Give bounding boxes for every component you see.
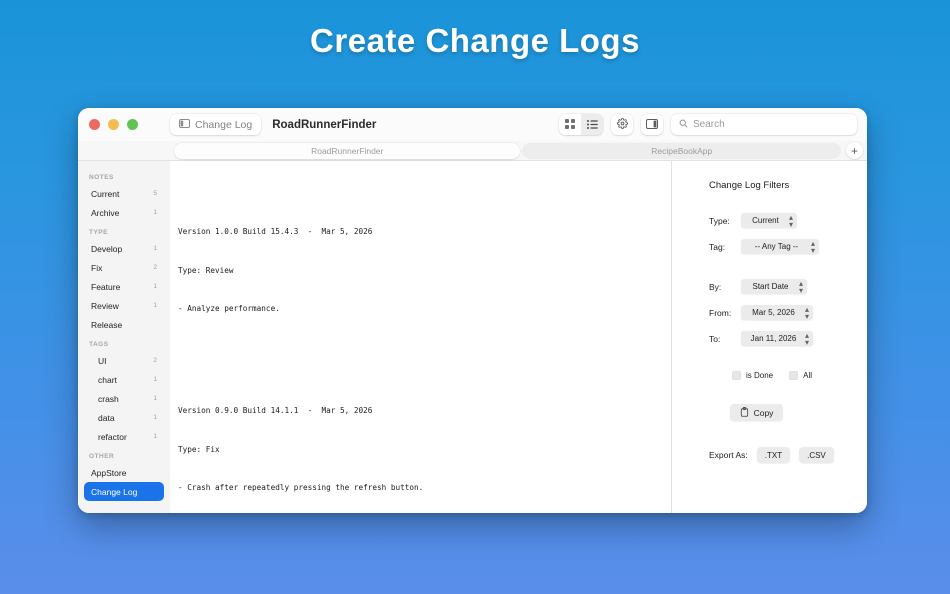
grid-view-button[interactable] (559, 114, 581, 135)
plus-icon: + (851, 145, 858, 157)
filter-select-by[interactable]: Start Date ▴▾ (741, 279, 807, 294)
filter-select-to[interactable]: Jan 11, 2026 ▴▾ (741, 331, 813, 346)
copy-button[interactable]: Copy (730, 404, 784, 421)
app-window: Change Log RoadRunnerFinder (78, 108, 867, 513)
tab-label: RecipeBookApp (651, 146, 712, 156)
checkbox-is-done[interactable]: is Done (732, 371, 773, 380)
sidebar-item-develop[interactable]: Develop 1 (84, 239, 164, 258)
copy-button-label: Copy (754, 408, 774, 418)
sidebar-item-label: Current (91, 189, 119, 199)
sidebar-section-header-type: TYPE (78, 222, 170, 239)
export-row: Export As: .TXT .CSV (672, 447, 867, 463)
filter-label-by: By: (709, 282, 741, 292)
chevron-updown-icon: ▴▾ (799, 280, 803, 294)
sidebar-item-label: crash (91, 394, 119, 404)
tab-roadrunnerfinder[interactable]: RoadRunnerFinder (174, 143, 520, 159)
sidebar-item-crash[interactable]: crash 1 (84, 389, 164, 408)
sidebar-item-refactor[interactable]: refactor 1 (84, 427, 164, 446)
chevron-updown-icon: ▴▾ (805, 306, 809, 320)
toolbar-right-group: Search (559, 108, 857, 141)
changelog-text-pane[interactable]: Version 1.0.0 Build 15.4.3 - Mar 5, 2026… (170, 161, 672, 513)
checkbox-box-icon (732, 371, 741, 380)
search-placeholder: Search (693, 119, 725, 130)
filter-row-tag: Tag: -- Any Tag -- ▴▾ (672, 236, 867, 257)
filter-row-from: From: Mar 5, 2026 ▴▾ (672, 302, 867, 323)
filter-value-tag: -- Any Tag -- (748, 242, 805, 251)
list-view-button[interactable] (581, 114, 603, 135)
inspector-title: Change Log Filters (672, 180, 867, 191)
sidebar-item-count: 2 (153, 264, 157, 271)
chevron-updown-icon: ▴▾ (805, 332, 809, 346)
entry-version-line: Version 1.0.0 Build 15.4.3 - Mar 5, 2026 (178, 226, 671, 239)
filter-select-tag[interactable]: -- Any Tag -- ▴▾ (741, 239, 819, 254)
sidebar-item-label: Fix (91, 263, 102, 273)
sidebar-section-header-tags: TAGS (78, 334, 170, 351)
sidebar-item-data[interactable]: data 1 (84, 408, 164, 427)
entry-version-line: Version 0.9.0 Build 14.1.1 - Mar 5, 2026 (178, 405, 671, 418)
inspector-toggle-button[interactable] (641, 114, 663, 135)
sidebar-item-label: UI (91, 356, 107, 366)
clipboard-icon (740, 407, 749, 419)
sidebar-item-count: 2 (153, 357, 157, 364)
changelog-text: Version 1.0.0 Build 15.4.3 - Mar 5, 2026… (178, 175, 671, 513)
view-mode-segmented-control[interactable] (559, 114, 603, 135)
add-tab-button[interactable]: + (846, 142, 863, 159)
sidebar-section-header-other: OTHER (78, 446, 170, 463)
sidebar-item-current[interactable]: Current 5 (84, 184, 164, 203)
filter-row-type: Type: Current ▴▾ (672, 210, 867, 231)
sidebar-left-icon (179, 119, 190, 131)
filter-select-type[interactable]: Current ▴▾ (741, 213, 797, 228)
sidebar-item-count: 1 (153, 376, 157, 383)
sidebar-item-label: Feature (91, 282, 120, 292)
chevron-updown-icon: ▴▾ (789, 214, 793, 228)
filter-select-from[interactable]: Mar 5, 2026 ▴▾ (741, 305, 813, 320)
sidebar-item-count: 1 (153, 245, 157, 252)
sidebar: NOTES Current 5 Archive 1 TYPE Develop 1… (78, 161, 170, 513)
mode-changelog-button[interactable]: Change Log (170, 114, 261, 135)
changelog-entry: Version 1.0.0 Build 15.4.3 - Mar 5, 2026… (178, 201, 671, 342)
sidebar-item-feature[interactable]: Feature 1 (84, 277, 164, 296)
sidebar-item-count: 1 (153, 433, 157, 440)
traffic-light-group (78, 119, 170, 130)
window-titlebar: Change Log RoadRunnerFinder (78, 108, 867, 141)
sidebar-item-label: Archive (91, 208, 119, 218)
tab-bar: RoadRunnerFinder RecipeBookApp + (78, 141, 867, 161)
tab-recipebookapp[interactable]: RecipeBookApp (522, 143, 841, 159)
sidebar-item-count: 1 (153, 414, 157, 421)
sidebar-item-label: Develop (91, 244, 122, 254)
close-button[interactable] (89, 119, 100, 130)
mode-changelog-label: Change Log (195, 119, 252, 131)
inspector-panel: Change Log Filters Type: Current ▴▾ Tag:… (672, 161, 867, 513)
entry-note-line: - Crash after repeatedly pressing the re… (178, 482, 671, 495)
filter-label-from: From: (709, 308, 741, 318)
filter-value-from: Mar 5, 2026 (748, 308, 799, 317)
filter-value-to: Jan 11, 2026 (748, 334, 799, 343)
sidebar-section-header-notes: NOTES (78, 167, 170, 184)
sidebar-item-count: 1 (153, 395, 157, 402)
field-spacer (672, 262, 867, 276)
sidebar-item-count: 1 (153, 283, 157, 290)
document-title: RoadRunnerFinder (272, 119, 376, 131)
entry-note-line: - Analyze performance. (178, 303, 671, 316)
filter-label-to: To: (709, 334, 741, 344)
sidebar-item-review[interactable]: Review 1 (84, 296, 164, 315)
sidebar-item-label: Release (91, 320, 122, 330)
sidebar-item-label: Review (91, 301, 119, 311)
export-csv-button[interactable]: .CSV (799, 447, 834, 463)
sidebar-item-label: chart (91, 375, 117, 385)
sidebar-item-label: AppStore (91, 468, 126, 478)
export-label: Export As: (709, 450, 748, 460)
right-panel-icon (646, 116, 658, 134)
sidebar-item-count: 1 (153, 302, 157, 309)
export-txt-label: .TXT (765, 451, 782, 460)
entry-type-line: Type: Review (178, 265, 671, 278)
filter-row-to: To: Jan 11, 2026 ▴▾ (672, 328, 867, 349)
sidebar-item-ui[interactable]: UI 2 (84, 351, 164, 370)
sidebar-item-release[interactable]: Release (84, 315, 164, 334)
checkbox-box-icon (789, 371, 798, 380)
entry-type-line: Type: Fix (178, 444, 671, 457)
chevron-updown-icon: ▴▾ (811, 240, 815, 254)
checkbox-label: All (803, 371, 812, 380)
sidebar-item-count: 1 (153, 209, 157, 216)
copy-button-row: Copy (672, 404, 867, 421)
page-title: Create Change Logs (0, 22, 950, 60)
zoom-button[interactable] (127, 119, 138, 130)
filter-label-tag: Tag: (709, 242, 741, 252)
sidebar-item-label: data (91, 413, 115, 423)
tab-label: RoadRunnerFinder (311, 146, 383, 156)
settings-button[interactable] (611, 114, 633, 135)
sidebar-item-label: refactor (91, 432, 127, 442)
export-txt-button[interactable]: .TXT (757, 447, 790, 463)
search-icon (679, 119, 688, 131)
export-csv-label: .CSV (807, 451, 826, 460)
list-view-icon (587, 116, 598, 134)
search-input[interactable]: Search (671, 114, 857, 135)
sidebar-item-chart[interactable]: chart 1 (84, 370, 164, 389)
gear-icon (617, 116, 628, 134)
filter-checkbox-group: is Done All (672, 371, 867, 380)
filter-label-type: Type: (709, 216, 741, 226)
sidebar-item-label: Change Log (91, 487, 137, 497)
sidebar-item-change-log[interactable]: Change Log (84, 482, 164, 501)
sidebar-item-fix[interactable]: Fix 2 (84, 258, 164, 277)
checkbox-all[interactable]: All (789, 371, 812, 380)
filter-row-by: By: Start Date ▴▾ (672, 276, 867, 297)
checkbox-label: is Done (746, 371, 773, 380)
changelog-entry: Version 0.9.0 Build 14.1.1 - Mar 5, 2026… (178, 380, 671, 513)
minimize-button[interactable] (108, 119, 119, 130)
sidebar-item-appstore[interactable]: AppStore (84, 463, 164, 482)
sidebar-item-count: 5 (153, 190, 157, 197)
grid-view-icon (565, 116, 575, 134)
filter-value-by: Start Date (748, 282, 793, 291)
filter-value-type: Current (748, 216, 783, 225)
window-body: NOTES Current 5 Archive 1 TYPE Develop 1… (78, 161, 867, 513)
sidebar-item-archive[interactable]: Archive 1 (84, 203, 164, 222)
